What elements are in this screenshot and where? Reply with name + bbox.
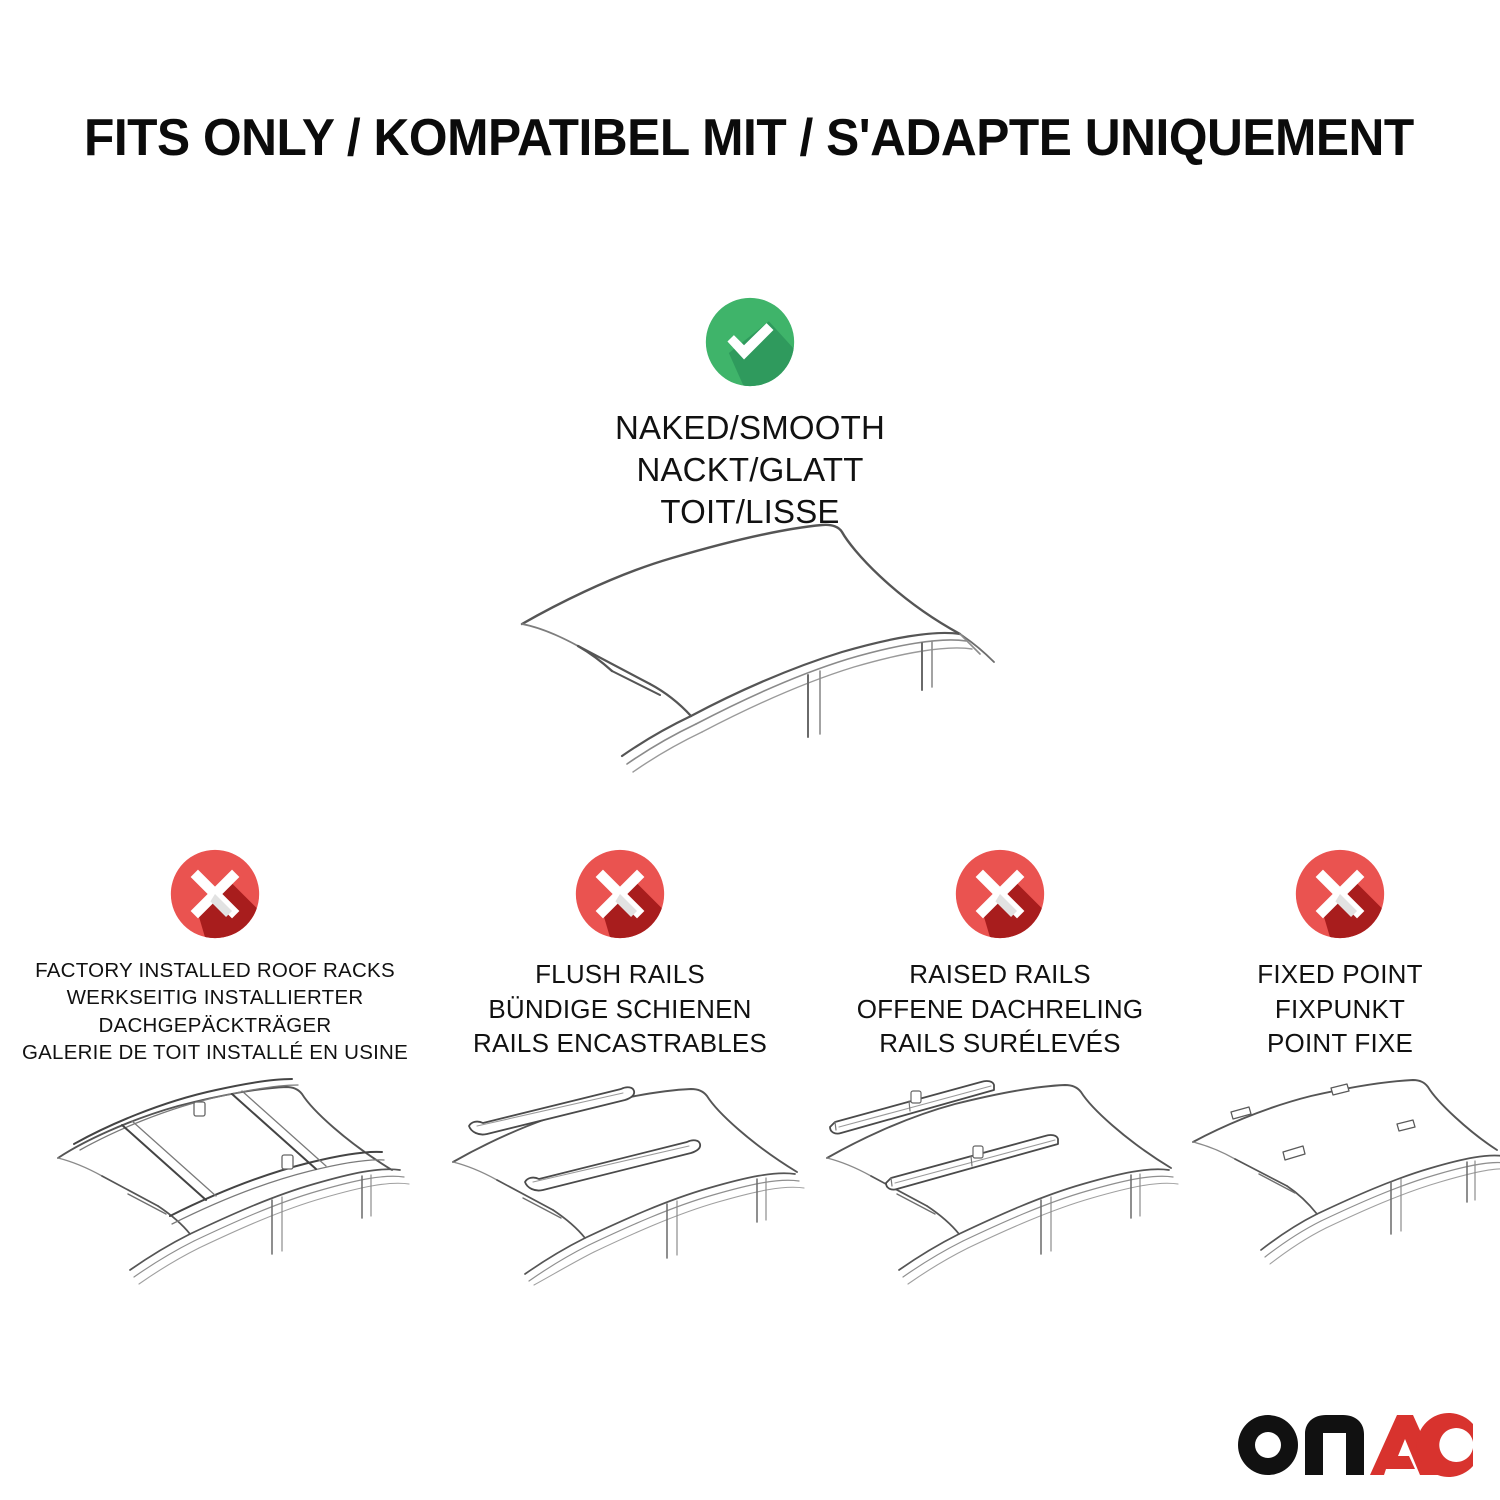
car-roof-factory-rack-illustration [10, 1066, 420, 1286]
label-de: BÜNDIGE SCHIENEN [425, 992, 815, 1027]
label-de: OFFENE DACHRELING [805, 992, 1195, 1027]
label-fr: RAILS SURÉLEVÉS [805, 1026, 1195, 1061]
label-fr: POINT FIXE [1180, 1026, 1500, 1061]
car-roof-flush-rails-illustration [425, 1066, 815, 1286]
compatible-label-de: NACKT/GLATT [0, 449, 1500, 491]
incompatible-item-fixed-point: FIXED POINT FIXPUNKT POINT FIXE [1180, 848, 1500, 1061]
label-de-1: WERKSEITIG INSTALLIERTER [10, 984, 420, 1011]
incompatible-labels-flush-rails: FLUSH RAILS BÜNDIGE SCHIENEN RAILS ENCAS… [425, 957, 815, 1061]
label-en: FIXED POINT [1180, 957, 1500, 992]
incompatible-labels-fixed-point: FIXED POINT FIXPUNKT POINT FIXE [1180, 957, 1500, 1061]
label-fr: RAILS ENCASTRABLES [425, 1026, 815, 1061]
label-de: FIXPUNKT [1180, 992, 1500, 1027]
incompatible-labels-raised-rails: RAISED RAILS OFFENE DACHRELING RAILS SUR… [805, 957, 1195, 1061]
red-x-icon [1294, 848, 1386, 940]
label-fr: GALERIE DE TOIT INSTALLÉ EN USINE [10, 1039, 420, 1066]
label-en: FLUSH RAILS [425, 957, 815, 992]
omac-logo [1237, 1412, 1473, 1478]
car-roof-fixed-point-illustration [1175, 1066, 1500, 1286]
car-roof-naked-smooth-illustration [490, 512, 1030, 802]
compatible-section: NAKED/SMOOTH NACKT/GLATT TOIT/LISSE [0, 296, 1500, 534]
label-en: FACTORY INSTALLED ROOF RACKS [10, 957, 420, 984]
incompatible-item-raised-rails: RAISED RAILS OFFENE DACHRELING RAILS SUR… [805, 848, 1195, 1061]
green-check-icon [704, 296, 796, 388]
red-x-icon [169, 848, 261, 940]
label-de-2: DACHGEPÄCKTRÄGER [10, 1012, 420, 1039]
red-x-icon [574, 848, 666, 940]
incompatible-labels-factory-rack: FACTORY INSTALLED ROOF RACKS WERKSEITIG … [10, 957, 420, 1067]
car-roof-raised-rails-illustration [805, 1066, 1195, 1286]
red-x-icon [954, 848, 1046, 940]
incompatible-item-flush-rails: FLUSH RAILS BÜNDIGE SCHIENEN RAILS ENCAS… [425, 848, 815, 1061]
page-title: FITS ONLY / KOMPATIBEL MIT / S'ADAPTE UN… [84, 108, 1414, 168]
incompatible-item-factory-rack: FACTORY INSTALLED ROOF RACKS WERKSEITIG … [10, 848, 420, 1067]
label-en: RAISED RAILS [805, 957, 1195, 992]
compatible-label-en: NAKED/SMOOTH [0, 407, 1500, 449]
